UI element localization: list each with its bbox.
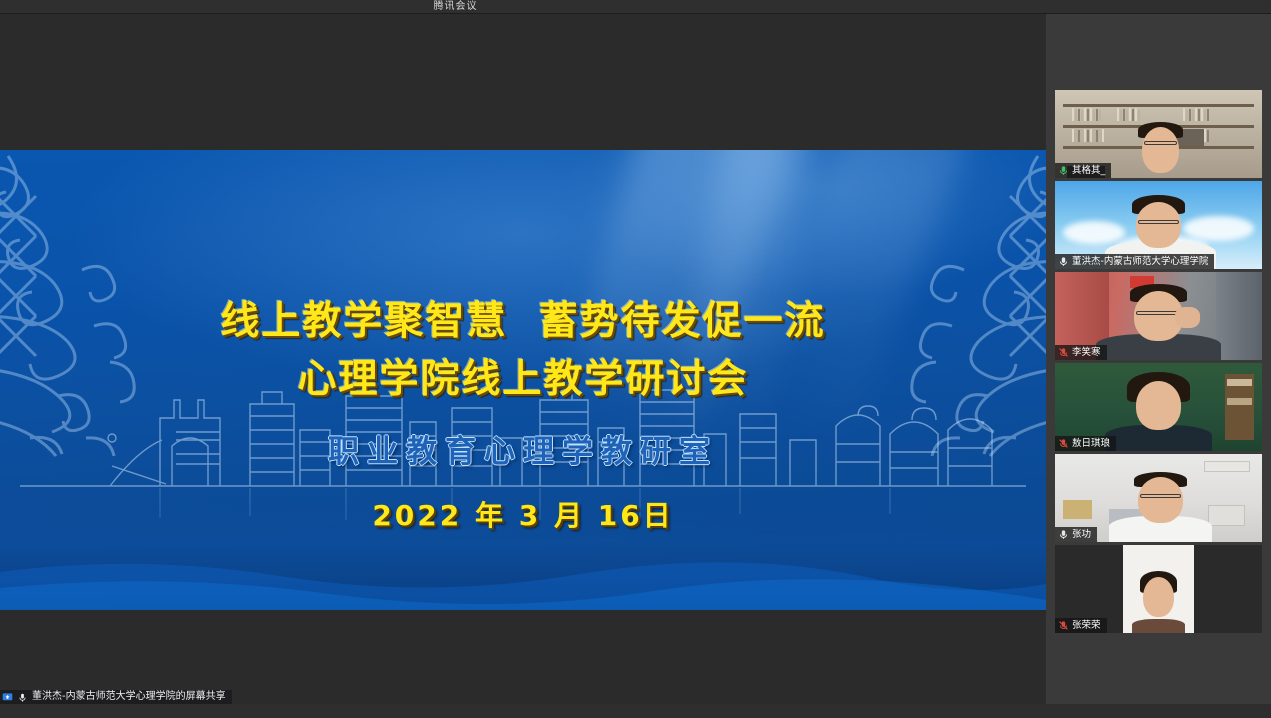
microphone-on-icon <box>1058 529 1069 540</box>
screen-share-status-label: 董洪杰-内蒙古师范大学心理学院的屏幕共享 <box>32 692 226 702</box>
slide-title-line-2: 心理学院线上教学研讨会 <box>0 348 1046 404</box>
participant-name: 李笑寒 <box>1072 348 1101 358</box>
window-title: 腾讯会议 <box>434 2 478 12</box>
slide-date: 2022 年 3 月 16日 <box>0 494 1046 534</box>
presentation-slide: 线上教学聚智慧 蓄势待发促一流 心理学院线上教学研讨会 职业教育心理学教研室 2… <box>0 150 1046 610</box>
participant-name-bar: 董洪杰-内蒙古师范大学心理学院 <box>1055 254 1214 269</box>
participant-tile[interactable]: 敖日琪琅 <box>1055 363 1262 451</box>
microphone-muted-icon <box>1058 620 1069 631</box>
participant-name: 张荣荣 <box>1072 621 1101 631</box>
microphone-icon <box>17 692 28 703</box>
participant-tile[interactable]: 其格其_ <box>1055 90 1262 178</box>
microphone-muted-icon <box>1058 438 1069 449</box>
participant-name-bar: 张荣荣 <box>1055 618 1107 633</box>
meeting-window: 腾讯会议 <box>0 0 1271 718</box>
slide-title-line-1: 线上教学聚智慧 蓄势待发促一流 <box>0 290 1046 346</box>
window-title-bar: 腾讯会议 <box>0 0 1271 14</box>
participant-sidebar: 其格其_ <box>1046 14 1271 704</box>
participant-name: 张功 <box>1072 530 1091 540</box>
participant-name-bar: 张功 <box>1055 527 1097 542</box>
slide-department: 职业教育心理学教研室 <box>0 426 1046 471</box>
participant-name-bar: 其格其_ <box>1055 163 1111 178</box>
participant-name: 董洪杰-内蒙古师范大学心理学院 <box>1072 257 1208 267</box>
microphone-muted-icon <box>1058 347 1069 358</box>
participant-name-bar: 李笑寒 <box>1055 345 1107 360</box>
participant-name: 敖日琪琅 <box>1072 439 1110 449</box>
participant-tile[interactable]: 张功 <box>1055 454 1262 542</box>
screen-share-icon <box>2 692 13 703</box>
participant-filmstrip: 其格其_ <box>1055 90 1266 636</box>
participant-tile[interactable]: 张荣荣 <box>1055 545 1262 633</box>
participant-name: 其格其_ <box>1072 166 1105 176</box>
participant-name-bar: 敖日琪琅 <box>1055 436 1116 451</box>
participant-tile[interactable]: 董洪杰-内蒙古师范大学心理学院 <box>1055 181 1262 269</box>
participant-tile[interactable]: 李笑寒 <box>1055 272 1262 360</box>
microphone-on-icon <box>1058 256 1069 267</box>
microphone-on-icon <box>1058 165 1069 176</box>
screen-share-status-bar: 董洪杰-内蒙古师范大学心理学院的屏幕共享 <box>0 690 232 704</box>
shared-screen-stage[interactable]: 线上教学聚智慧 蓄势待发促一流 心理学院线上教学研讨会 职业教育心理学教研室 2… <box>0 14 1046 704</box>
slide-text-block: 线上教学聚智慧 蓄势待发促一流 心理学院线上教学研讨会 职业教育心理学教研室 2… <box>0 150 1046 610</box>
